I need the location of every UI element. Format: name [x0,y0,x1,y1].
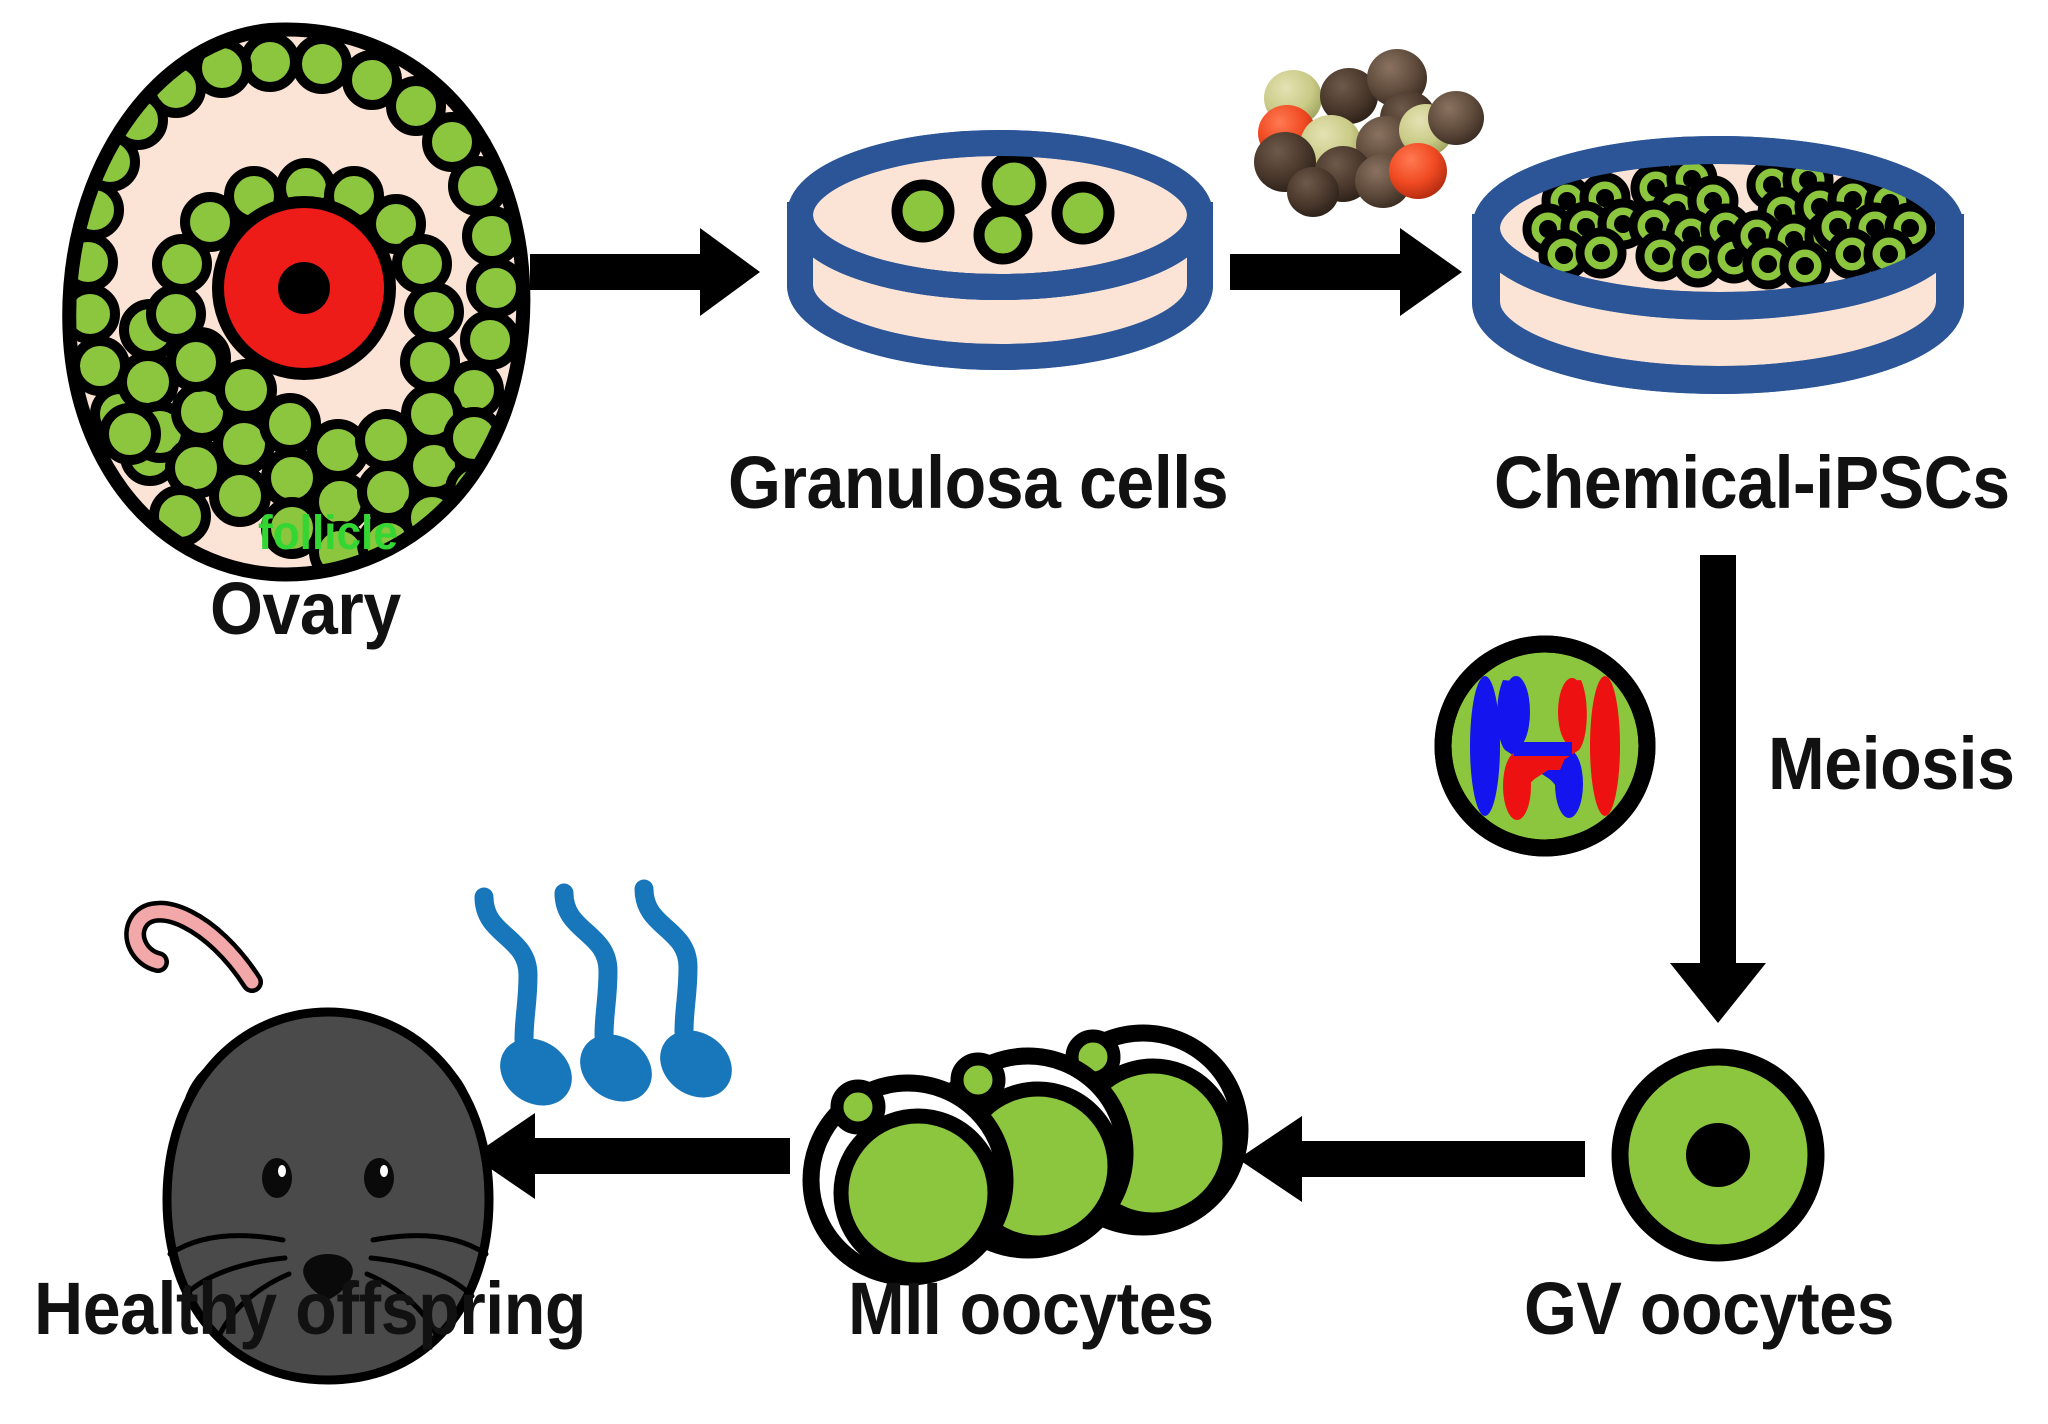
label-chemical-ipscs: Chemical-iPSCs [1494,446,2010,520]
small-molecule-chemicals [1254,49,1484,217]
chromosome-blue [1470,676,1500,816]
mouse-eye-right [364,1158,394,1198]
arrow-mii-to-offspring [472,1113,790,1199]
chromosome-red [1590,676,1620,816]
gv-oocyte-nucleus [1686,1123,1750,1187]
arrow-gv-to-mii [1238,1116,1585,1202]
granulosa-cell [1057,187,1109,239]
granulosa-cells-dish [800,143,1200,357]
workflow-diagram [0,0,2048,1424]
granulosa-cell [987,157,1041,211]
label-ovary: Ovary [210,572,401,646]
sperm-cell [484,897,585,1119]
mii-oocyte [811,1083,1005,1277]
granulosa-cell [979,211,1027,259]
ovary-oocyte-nucleus [278,262,330,314]
sperm-cell [564,893,665,1115]
ovary-follicle-illustration [63,29,523,578]
granulosa-cell [897,185,949,237]
label-granulosa-cells: Granulosa cells [728,446,1228,520]
arrow-ovary-to-granulosa [530,228,760,316]
chemical-ipsc-dish [1486,150,1950,380]
arrow-granulosa-to-ipsc [1230,228,1462,316]
label-meiosis: Meiosis [1768,727,2015,801]
label-follicle: follicle [258,510,398,558]
mii-oocytes [811,1033,1240,1277]
mouse-eye-left [262,1158,292,1198]
sperm-cells [484,889,745,1119]
label-gv-oocytes: GV oocytes [1524,1272,1894,1346]
ooplasm [841,1116,995,1270]
label-healthy-offspring: Healthy offspring [34,1272,586,1346]
arrow-ipsc-to-gv [1670,555,1766,1023]
diagram-canvas: follicle Ovary Granulosa cells Chemical-… [0,0,2048,1424]
label-mii-oocytes: MII oocytes [848,1272,1214,1346]
meiosis-chromosome-cell [1443,644,1647,848]
gv-oocyte [1620,1057,1816,1253]
sperm-cell [644,889,745,1111]
polar-body [837,1086,879,1128]
